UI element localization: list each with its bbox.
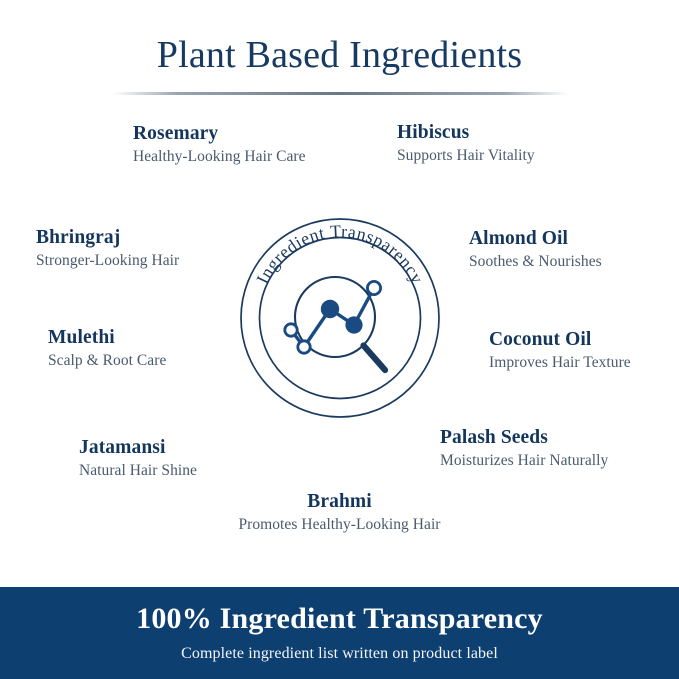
infographic-page: Plant Based Ingredients Rosemary Healthy… (0, 0, 679, 679)
ingredient-description: Improves Hair Texture (489, 353, 631, 372)
ingredient-name: Hibiscus (397, 122, 535, 144)
ingredient-name: Jatamansi (79, 437, 197, 459)
ingredient-description: Natural Hair Shine (79, 461, 197, 480)
ingredient-description: Promotes Healthy-Looking Hair (0, 515, 679, 534)
ingredient-name: Almond Oil (469, 228, 602, 250)
ingredient-palash-seeds: Palash Seeds Moisturizes Hair Naturally (440, 427, 608, 471)
ingredient-name: Brahmi (0, 491, 679, 513)
title-block: Plant Based Ingredients (0, 34, 679, 77)
transparency-banner: 100% Ingredient Transparency Complete in… (0, 587, 679, 679)
ingredient-coconut-oil: Coconut Oil Improves Hair Texture (489, 329, 631, 373)
banner-subtitle: Complete ingredient list written on prod… (0, 637, 679, 663)
ingredient-name: Mulethi (48, 327, 166, 349)
ingredient-jatamansi: Jatamansi Natural Hair Shine (79, 437, 197, 481)
title-divider (113, 92, 568, 95)
ingredient-name: Palash Seeds (440, 427, 608, 449)
page-title: Plant Based Ingredients (0, 34, 679, 77)
ingredient-almond-oil: Almond Oil Soothes & Nourishes (469, 228, 602, 272)
ingredient-name: Rosemary (133, 123, 306, 145)
ingredient-description: Soothes & Nourishes (469, 252, 602, 271)
ingredient-name: Bhringraj (36, 227, 179, 249)
ingredient-rosemary: Rosemary Healthy-Looking Hair Care (133, 123, 306, 167)
ingredient-transparency-badge: Ingredient Transparency (238, 216, 442, 420)
ingredient-description: Scalp & Root Care (48, 351, 166, 370)
ingredient-hibiscus: Hibiscus Supports Hair Vitality (397, 122, 535, 166)
ingredient-description: Moisturizes Hair Naturally (440, 451, 608, 470)
badge-outer-ring (241, 219, 439, 417)
ingredient-bhringraj: Bhringraj Stronger-Looking Hair (36, 227, 179, 271)
magnifying-glass-molecule-icon (285, 277, 385, 370)
ingredient-description: Supports Hair Vitality (397, 146, 535, 165)
ingredient-mulethi: Mulethi Scalp & Root Care (48, 327, 166, 371)
ingredient-description: Healthy-Looking Hair Care (133, 147, 306, 166)
ingredient-brahmi: Brahmi Promotes Healthy-Looking Hair (0, 491, 679, 535)
ingredient-name: Coconut Oil (489, 329, 631, 351)
ingredient-description: Stronger-Looking Hair (36, 251, 179, 270)
banner-title: 100% Ingredient Transparency (0, 587, 679, 637)
